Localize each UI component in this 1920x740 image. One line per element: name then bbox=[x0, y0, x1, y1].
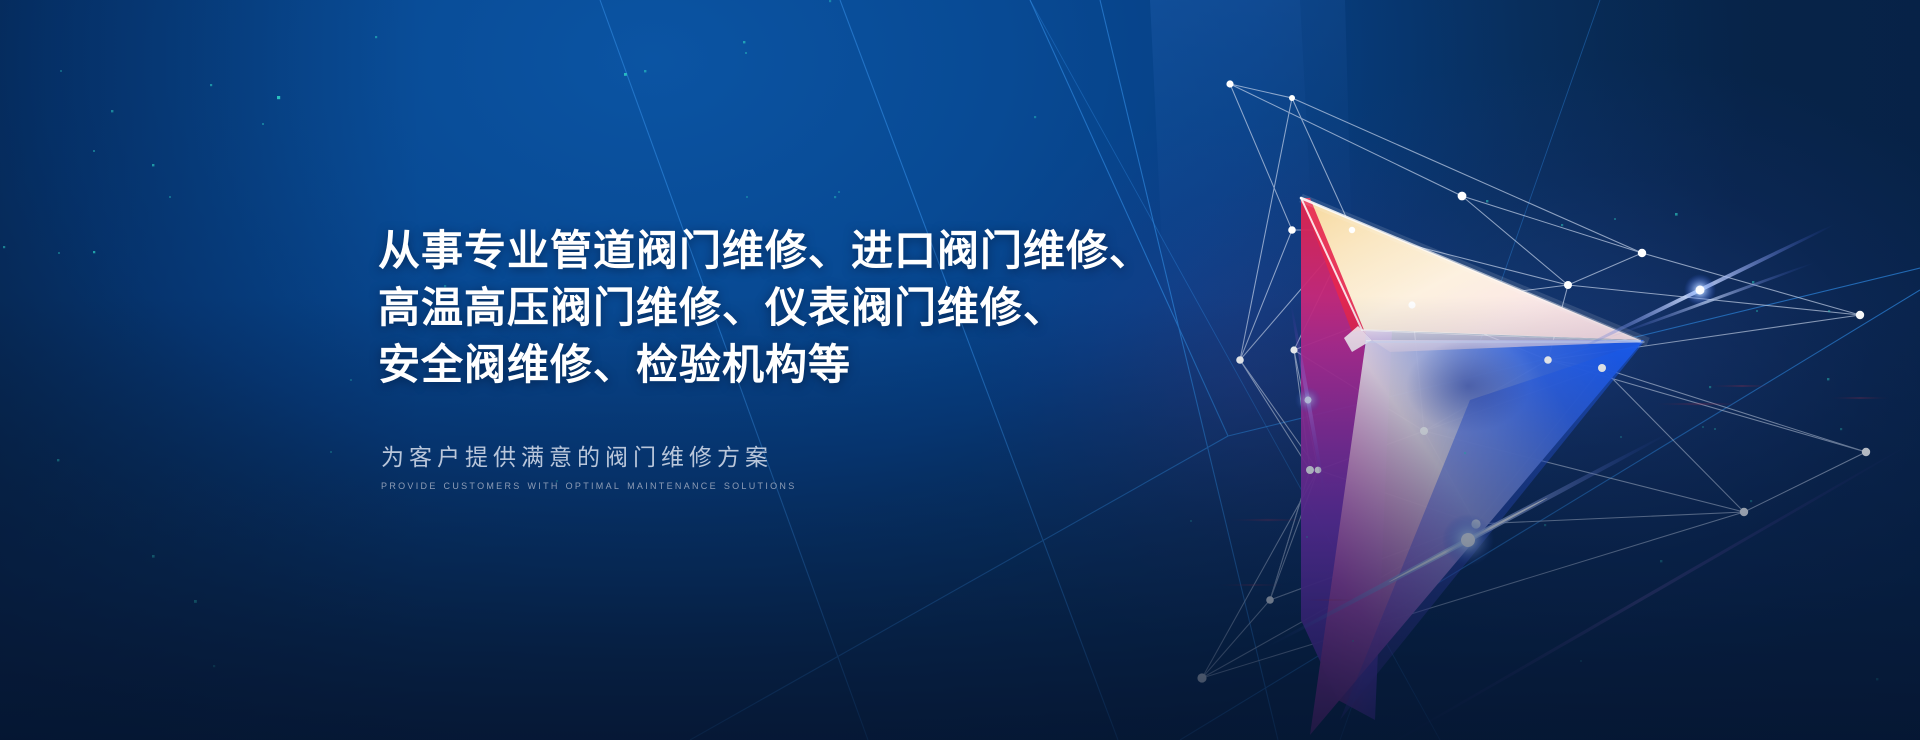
subtitle-chinese: 为客户提供满意的阀门维修方案 bbox=[381, 441, 1238, 473]
headline-line-1: 从事专业管道阀门维修、进口阀门维修、 bbox=[378, 222, 1238, 279]
subtitle-block: 为客户提供满意的阀门维修方案 Provide customers with op… bbox=[378, 441, 1238, 495]
hero-copy: 从事专业管道阀门维修、进口阀门维修、 高温高压阀门维修、仪表阀门维修、 安全阀维… bbox=[378, 222, 1238, 495]
hero-banner: 从事专业管道阀门维修、进口阀门维修、 高温高压阀门维修、仪表阀门维修、 安全阀维… bbox=[0, 0, 1920, 740]
headline-line-3: 安全阀维修、检验机构等 bbox=[378, 336, 1238, 393]
headline-line-2: 高温高压阀门维修、仪表阀门维修、 bbox=[378, 279, 1238, 336]
subtitle-english: Provide customers with optimal maintenan… bbox=[381, 475, 1238, 495]
